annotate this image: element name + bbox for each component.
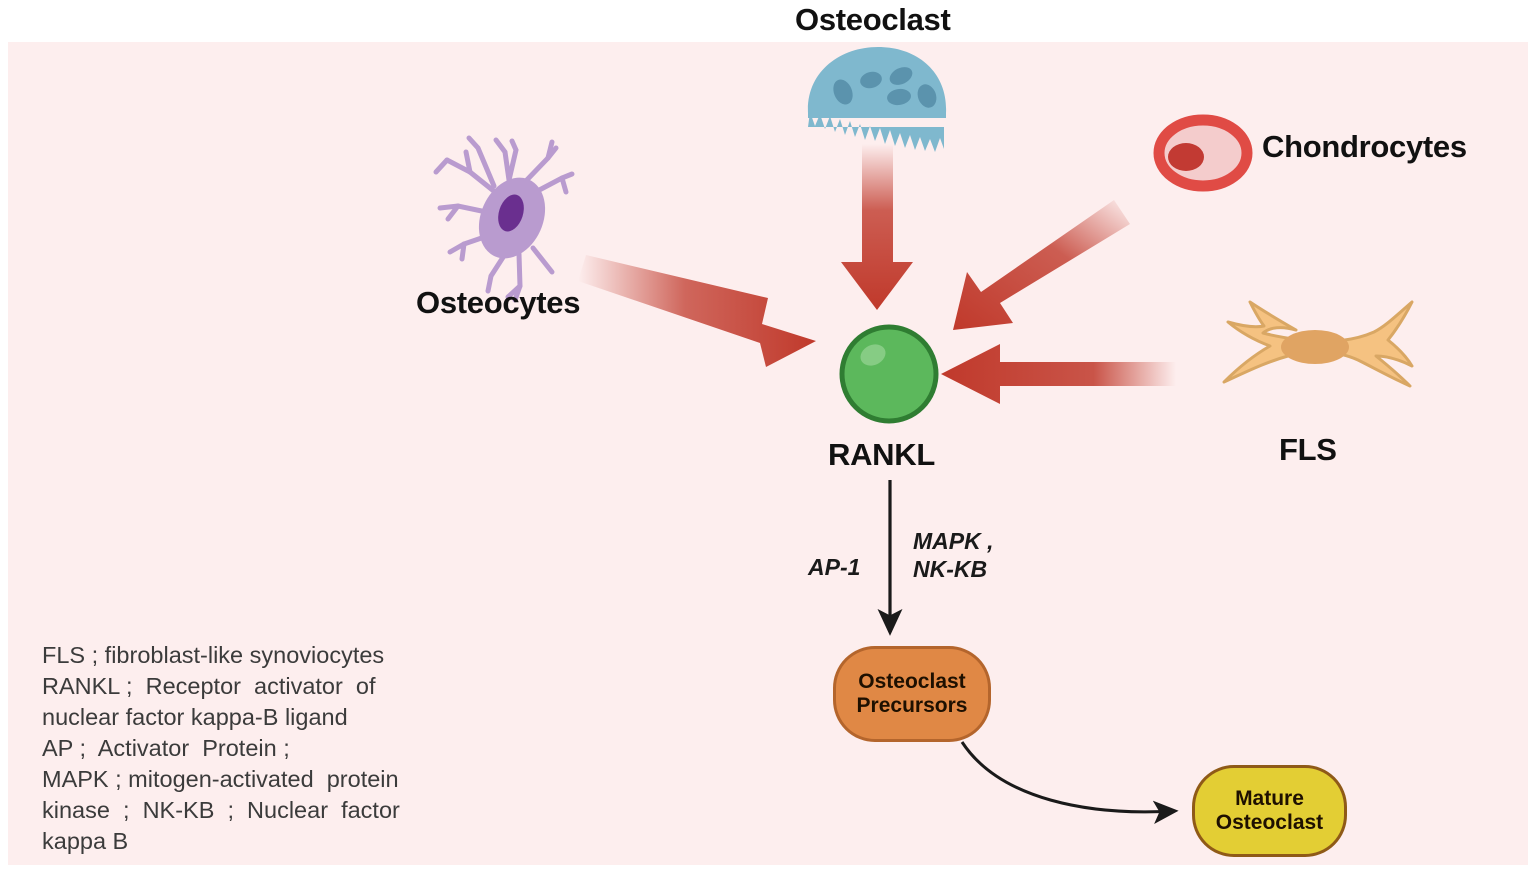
pathway-label-ap1: AP-1 — [808, 553, 860, 581]
node-osteoclast-precursors: Osteoclast Precursors — [833, 646, 991, 742]
node-mature-osteoclast: Mature Osteoclast — [1192, 765, 1347, 857]
abbreviations-legend: FLS ; fibroblast-like synoviocytes RANKL… — [42, 640, 527, 857]
pathway-label-mapk-line1: MAPK , — [913, 527, 994, 555]
cell-label-chondrocytes: Chondrocytes — [1262, 129, 1467, 165]
cell-label-fls: FLS — [1279, 432, 1337, 468]
node-osteoclast-precursors-line2: Precursors — [857, 694, 968, 718]
node-label-rankl: RANKL — [828, 437, 935, 473]
pathway-label-nkkb-line2: NK-KB — [913, 555, 994, 583]
node-mature-osteoclast-line2: Osteoclast — [1216, 811, 1323, 835]
node-osteoclast-precursors-line1: Osteoclast — [857, 670, 968, 694]
cell-label-osteocytes: Osteocytes — [416, 285, 580, 321]
cell-label-osteoclast: Osteoclast — [795, 2, 951, 38]
pathway-label-mapk-nkkb: MAPK , NK-KB — [913, 527, 994, 583]
node-mature-osteoclast-line1: Mature — [1216, 787, 1323, 811]
